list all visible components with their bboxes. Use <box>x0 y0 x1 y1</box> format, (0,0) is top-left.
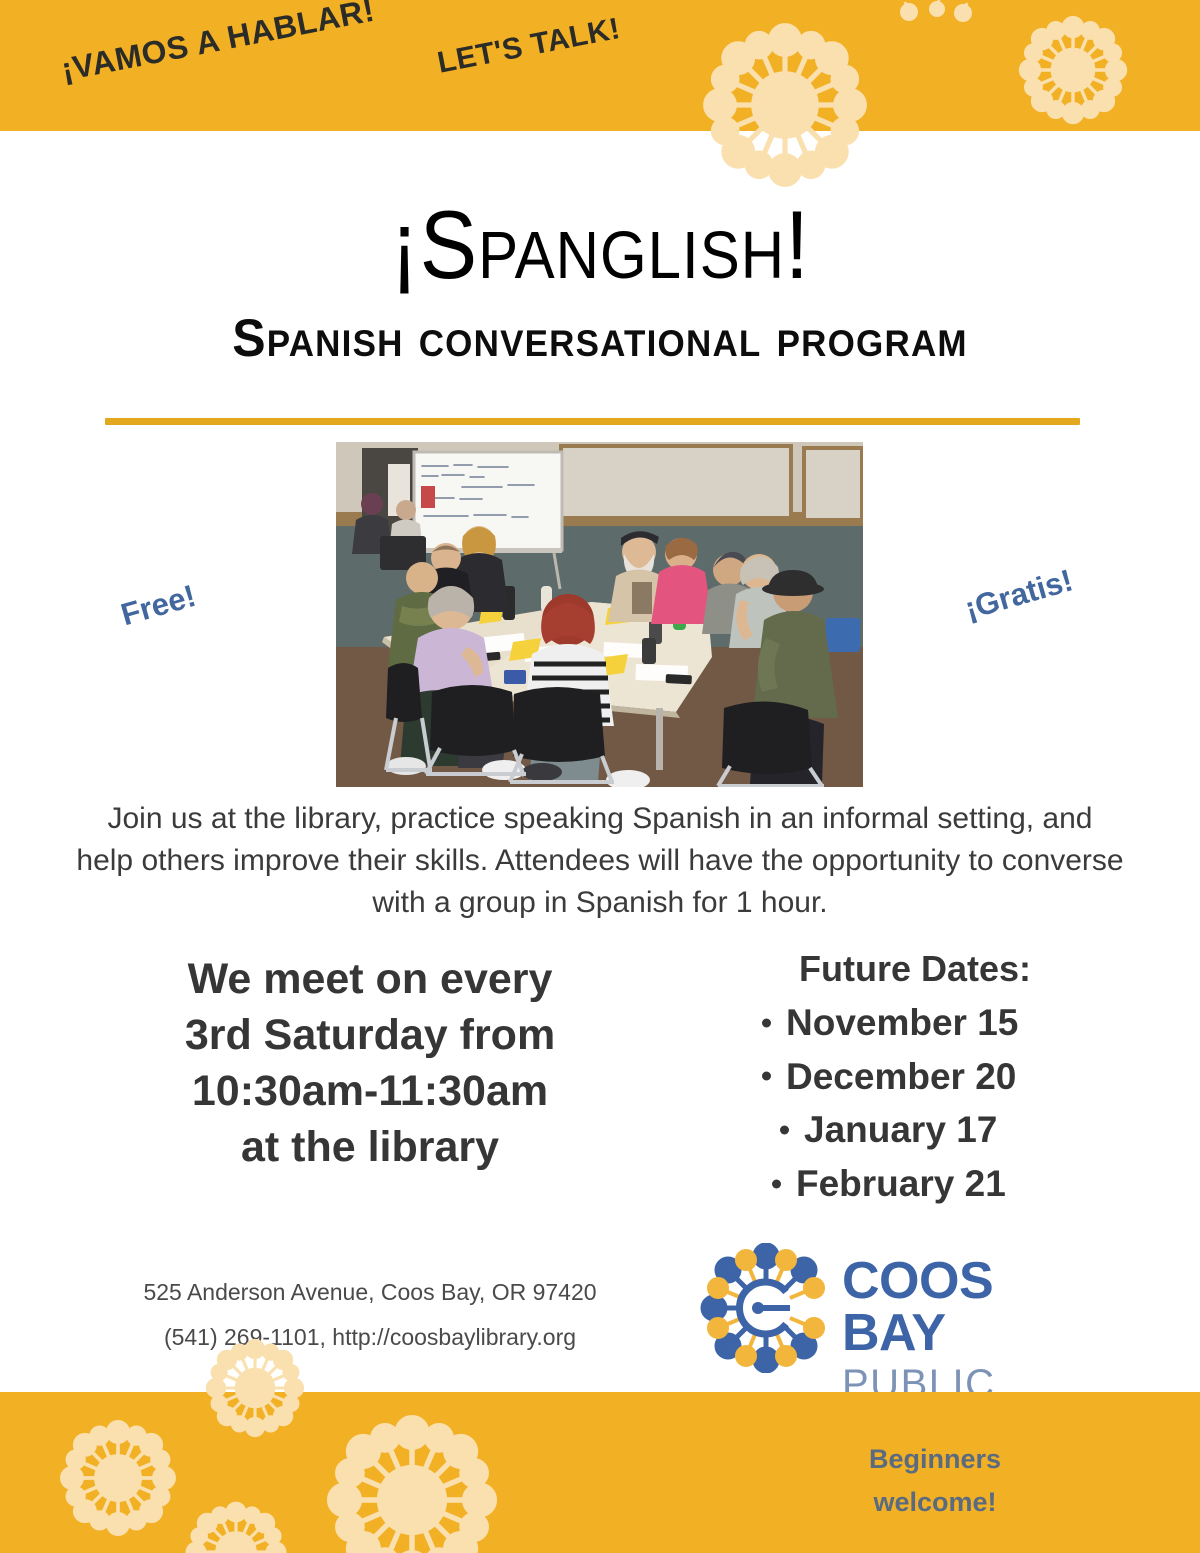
phone-and-website[interactable]: (541) 269-1101, http://coosbaylibrary.or… <box>70 1315 670 1360</box>
flyer-page: ¡VAMOS A HABLAR! LET'S TALK! ¡Spanglish!… <box>0 0 1200 1553</box>
beginners-welcome-text: Beginners welcome! <box>790 1438 1080 1524</box>
program-photo <box>336 442 863 787</box>
meeting-line-1: We meet on every <box>110 952 630 1008</box>
gratis-label: ¡Gratis! <box>961 562 1077 627</box>
logo-line-coos-bay: COOS BAY <box>842 1255 1100 1359</box>
meeting-line-4: at the library <box>110 1120 630 1176</box>
page-title: ¡Spanglish! <box>0 195 1200 296</box>
coos-bay-library-node-icon <box>700 1243 832 1373</box>
list-item: January 17 <box>700 1103 1120 1157</box>
description-text: Join us at the library, practice speakin… <box>75 798 1125 924</box>
future-dates-block: Future Dates: November 15 December 20 Ja… <box>700 948 1120 1211</box>
meeting-line-3: 10:30am-11:30am <box>110 1064 630 1120</box>
street-address: 525 Anderson Avenue, Coos Bay, OR 97420 <box>70 1270 670 1315</box>
free-label: Free! <box>117 578 200 634</box>
library-logo: COOS BAY PUBLIC LIBRARY <box>700 1243 1100 1373</box>
meeting-schedule: We meet on every 3rd Saturday from 10:30… <box>110 952 630 1176</box>
list-item: November 15 <box>700 996 1120 1050</box>
contact-info: 525 Anderson Avenue, Coos Bay, OR 97420 … <box>70 1270 670 1360</box>
beginners-line-1: Beginners <box>790 1438 1080 1481</box>
future-dates-title: Future Dates: <box>700 948 1120 990</box>
meeting-line-2: 3rd Saturday from <box>110 1008 630 1064</box>
gold-divider <box>105 418 1080 425</box>
title-block: ¡Spanglish! Spanish conversational progr… <box>0 195 1200 365</box>
list-item: February 21 <box>700 1157 1120 1211</box>
future-dates-list: November 15 December 20 January 17 Febru… <box>700 996 1120 1211</box>
page-subtitle: Spanish conversational program <box>0 307 1200 368</box>
beginners-line-2: welcome! <box>790 1481 1080 1524</box>
list-item: December 20 <box>700 1050 1120 1104</box>
